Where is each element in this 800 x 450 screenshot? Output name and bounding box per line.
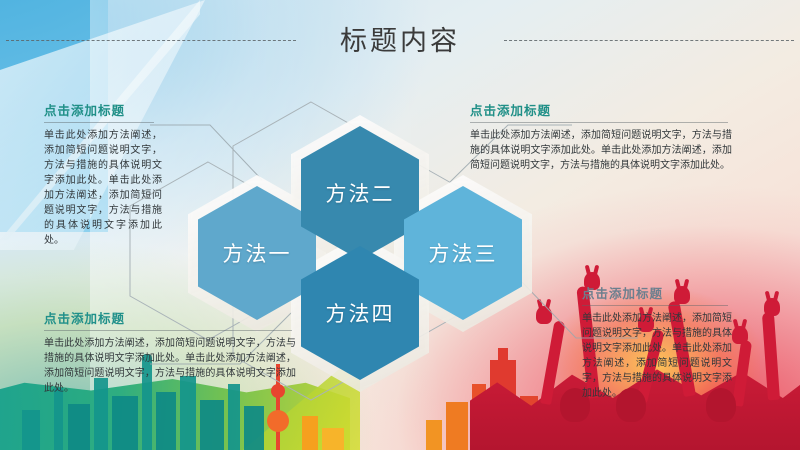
- slide-canvas: 标题内容: [0, 0, 800, 450]
- block-divider: [470, 122, 728, 123]
- title-dash-right: [504, 40, 794, 41]
- block-divider: [44, 122, 154, 123]
- block-title: 点击添加标题: [582, 283, 732, 302]
- skyline-building: [112, 396, 138, 450]
- building: [446, 402, 468, 450]
- hexagon-label: 方法一: [223, 238, 292, 268]
- text-block-bottom-right[interactable]: 点击添加标题 单击此处添加方法阐述，添加简短问题说明文字，方法与措施的具体说明文…: [582, 283, 732, 401]
- skyline-building: [54, 388, 63, 450]
- block-body: 单击此处添加方法阐述，添加简短问题说明文字，方法与措施的具体说明文字添加此处。单…: [470, 128, 732, 173]
- skyline-building: [68, 404, 90, 450]
- block-title: 点击添加标题: [44, 100, 162, 119]
- title-dash-left: [6, 40, 296, 41]
- building: [426, 420, 442, 450]
- hexagon-label: 方法二: [326, 178, 395, 208]
- text-block-top-left[interactable]: 点击添加标题 单击此处添加方法阐述，添加简短问题说明文字，方法与措施的具体说明文…: [44, 100, 162, 248]
- block-title: 点击添加标题: [44, 308, 296, 327]
- block-divider: [44, 330, 292, 331]
- text-block-top-right[interactable]: 点击添加标题 单击此处添加方法阐述，添加简短问题说明文字，方法与措施的具体说明文…: [470, 100, 732, 173]
- block-divider: [582, 305, 728, 306]
- raised-hand: [732, 326, 748, 344]
- block-body: 单击此处添加方法阐述，添加简短问题说明文字，方法与措施的具体说明文字添加此处。单…: [44, 336, 296, 396]
- hexagon-label: 方法四: [326, 298, 395, 328]
- slide-title-bar: 标题内容: [0, 14, 800, 62]
- skyline-building: [200, 400, 224, 450]
- building: [302, 416, 318, 450]
- block-title: 点击添加标题: [470, 100, 732, 119]
- hexagon-label: 方法三: [429, 238, 498, 268]
- raised-hand: [764, 298, 780, 316]
- building: [322, 428, 344, 450]
- tower-sphere-lower: [267, 410, 289, 432]
- block-body: 单击此处添加方法阐述，添加简短问题说明文字，方法与措施的具体说明文字添加此处。单…: [44, 128, 162, 248]
- page-title: 标题内容: [324, 19, 476, 58]
- text-block-bottom-left[interactable]: 点击添加标题 单击此处添加方法阐述，添加简短问题说明文字，方法与措施的具体说明文…: [44, 308, 296, 396]
- skyline-building: [156, 392, 176, 450]
- skyline-building: [22, 410, 40, 450]
- block-body: 单击此处添加方法阐述，添加简短问题说明文字，方法与措施的具体说明文字添加此处。单…: [582, 311, 732, 401]
